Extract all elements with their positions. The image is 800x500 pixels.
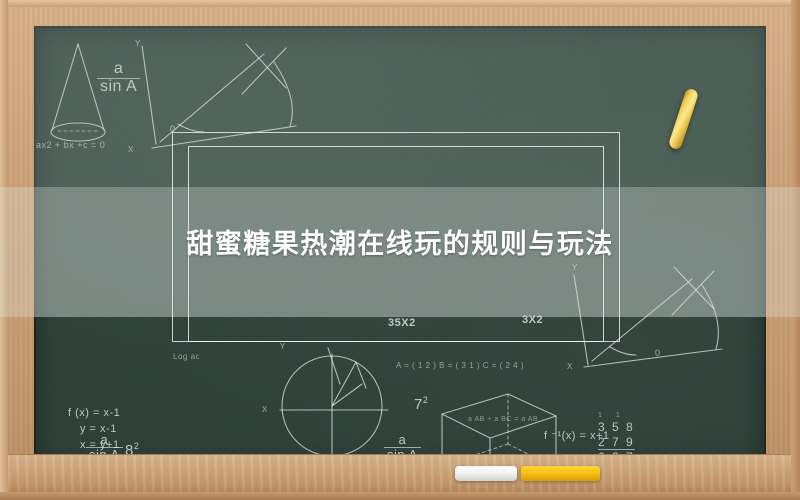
circle-axis-label-y: Y	[280, 342, 286, 351]
chalkboard-surface: a sin A ax2 + bx +c = 0 Y X 0	[34, 26, 766, 466]
circle-sector-diagram	[270, 344, 400, 464]
angle-label-right: 0	[655, 348, 661, 358]
frame-bevel-left	[0, 0, 8, 500]
axis-label-x-left: X	[128, 145, 134, 154]
angle-diagram-left	[126, 36, 326, 186]
quadratic-equation: ax2 + bx +c = 0	[36, 140, 105, 150]
axis-label-x-right: X	[567, 362, 573, 371]
function-line-2: y = x-1	[68, 422, 120, 438]
white-chalk-icon	[455, 466, 517, 481]
matrix-label-3x2: 3X2	[522, 314, 543, 326]
board-inner-shadow	[34, 26, 766, 466]
log-ac-label: Log ac	[173, 352, 200, 361]
angle-diagram-right	[564, 261, 744, 381]
yellow-chalk-icon	[521, 466, 600, 481]
power-seven-base: 7	[414, 396, 423, 413]
axis-label-y-right: Y	[572, 263, 578, 272]
triangle-inequality: a AB + a BC = a AB	[468, 416, 538, 423]
fraction-denominator: sin A	[97, 79, 140, 96]
chalk-dust-texture	[34, 26, 766, 466]
subtraction-subtrahend: 2 7 9	[598, 435, 635, 450]
axis-label-y-left: Y	[135, 39, 141, 48]
frame-bevel-right	[791, 0, 800, 500]
function-equations-block: f (x) = x-1 y = x-1 x = y+1	[68, 406, 120, 454]
power-eight-exponent: 2	[134, 441, 140, 451]
subtraction-carry: 1 1	[598, 412, 635, 420]
law-of-sines-formula-1: a sin A	[97, 61, 140, 96]
function-line-1: f (x) = x-1	[68, 406, 120, 422]
chalkboard-scene: a sin A ax2 + bx +c = 0 Y X 0	[0, 0, 800, 500]
fraction-numerator: a	[86, 433, 123, 448]
angle-label-left: 0	[170, 124, 176, 134]
inverse-function-equation: f ⁻¹(x) = x+1	[544, 429, 610, 442]
power-seven: 72	[414, 395, 428, 413]
subtraction-minuend: 3 5 8	[598, 420, 635, 434]
chalk-ledge	[8, 454, 791, 492]
fraction-numerator: a	[384, 433, 421, 448]
frame-bevel-top	[0, 0, 800, 7]
fraction-numerator: a	[97, 61, 140, 79]
cone-diagram	[44, 34, 274, 184]
matrix-row-values: A = ( 1 2 ) B = ( 3 1 ) C = ( 2 4 )	[396, 361, 524, 370]
matrix-label-35x2: 35X2	[388, 317, 416, 329]
circle-axis-label-x: X	[262, 405, 268, 414]
frame-bevel-bottom	[0, 492, 800, 500]
power-seven-exponent: 2	[423, 395, 429, 405]
function-line-3: x = y+1	[68, 438, 120, 454]
